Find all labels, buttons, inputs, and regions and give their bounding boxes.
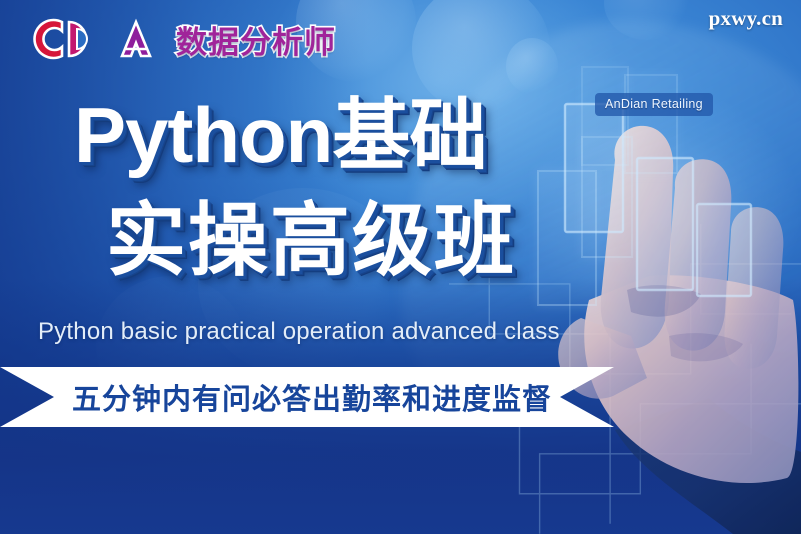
feature-ribbon: 五分钟内有问必答出勤率和进度监督 xyxy=(0,367,614,427)
andian-retailing-tag: AnDian Retailing xyxy=(595,93,713,116)
headline-line-2: 实操高级班 xyxy=(106,201,516,281)
site-watermark: pxwy.cn xyxy=(709,6,783,31)
headline-line-1: Python基础 xyxy=(74,96,486,174)
cda-logo: 数据分析师 xyxy=(22,12,336,66)
touch-panel xyxy=(624,74,678,174)
course-promo-banner: AnDian Retailing pxwy.cn 数据分析师 Python基础 … xyxy=(0,0,801,534)
ribbon-label: 五分钟内有问必答出勤率和进度监督 xyxy=(0,367,614,427)
touch-panel-group xyxy=(519,0,801,534)
cda-logo-chinese-text: 数据分析师 xyxy=(176,17,336,62)
touch-panel xyxy=(581,66,629,166)
cda-logo-mark xyxy=(22,16,172,62)
headline-subtitle: Python basic practical operation advance… xyxy=(38,318,560,346)
